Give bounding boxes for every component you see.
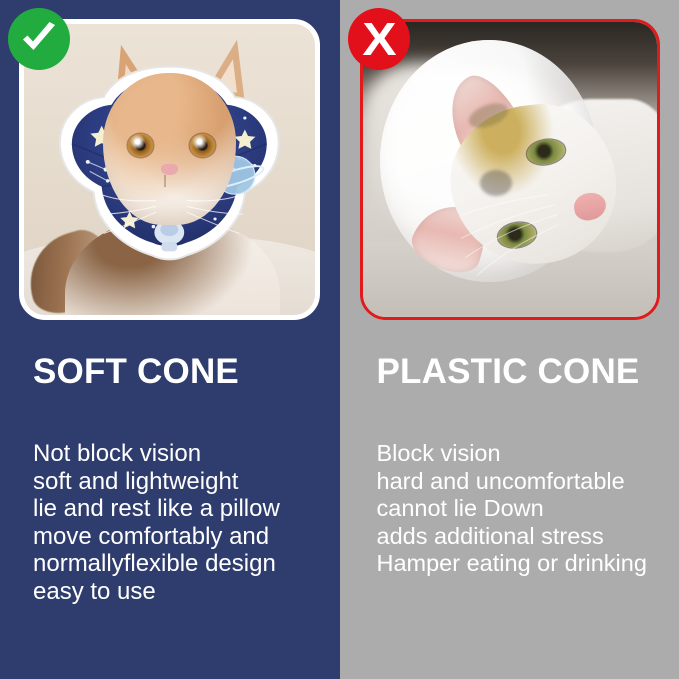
soft-cone-photo bbox=[24, 24, 315, 315]
list-item: easy to use bbox=[33, 578, 330, 606]
list-item: hard and uncomfortable bbox=[377, 468, 670, 496]
soft-cone-bullet-list: Not block vision soft and lightweight li… bbox=[33, 440, 330, 605]
x-icon: X bbox=[362, 16, 395, 62]
x-badge: X bbox=[348, 8, 410, 70]
list-item: lie and rest like a pillow bbox=[33, 495, 330, 523]
list-item: soft and lightweight bbox=[33, 468, 330, 496]
list-item: move comfortably and bbox=[33, 523, 330, 551]
soft-cone-scene bbox=[24, 24, 315, 315]
plastic-cone-photo bbox=[363, 22, 657, 317]
list-item: Block vision bbox=[377, 440, 670, 468]
cat-whiskers bbox=[363, 22, 657, 317]
plastic-cone-text-block: PLASTIC CONE Block vision hard and uncom… bbox=[377, 352, 670, 578]
list-item: Not block vision bbox=[33, 440, 330, 468]
comparison-infographic: SOFT CONE Not block vision soft and ligh… bbox=[0, 0, 679, 679]
list-item: cannot lie Down bbox=[377, 495, 670, 523]
soft-cone-text-block: SOFT CONE Not block vision soft and ligh… bbox=[33, 352, 330, 605]
soft-cone-photo-frame bbox=[19, 19, 320, 320]
list-item: adds additional stress bbox=[377, 523, 670, 551]
plastic-cone-photo-frame bbox=[360, 19, 660, 320]
plastic-cone-headline: PLASTIC CONE bbox=[377, 352, 670, 392]
plastic-cone-panel: X PLASTIC CONE Block vision hard and unc… bbox=[340, 0, 679, 679]
list-item: normallyflexible design bbox=[33, 550, 330, 578]
cat-whiskers bbox=[24, 24, 315, 315]
check-icon bbox=[18, 18, 60, 60]
soft-cone-headline: SOFT CONE bbox=[33, 352, 330, 392]
soft-cone-panel: SOFT CONE Not block vision soft and ligh… bbox=[0, 0, 340, 679]
check-badge bbox=[8, 8, 70, 70]
list-item: Hamper eating or drinking bbox=[377, 550, 670, 578]
plastic-cone-scene bbox=[363, 22, 657, 317]
plastic-cone-bullet-list: Block vision hard and uncomfortable cann… bbox=[377, 440, 670, 578]
